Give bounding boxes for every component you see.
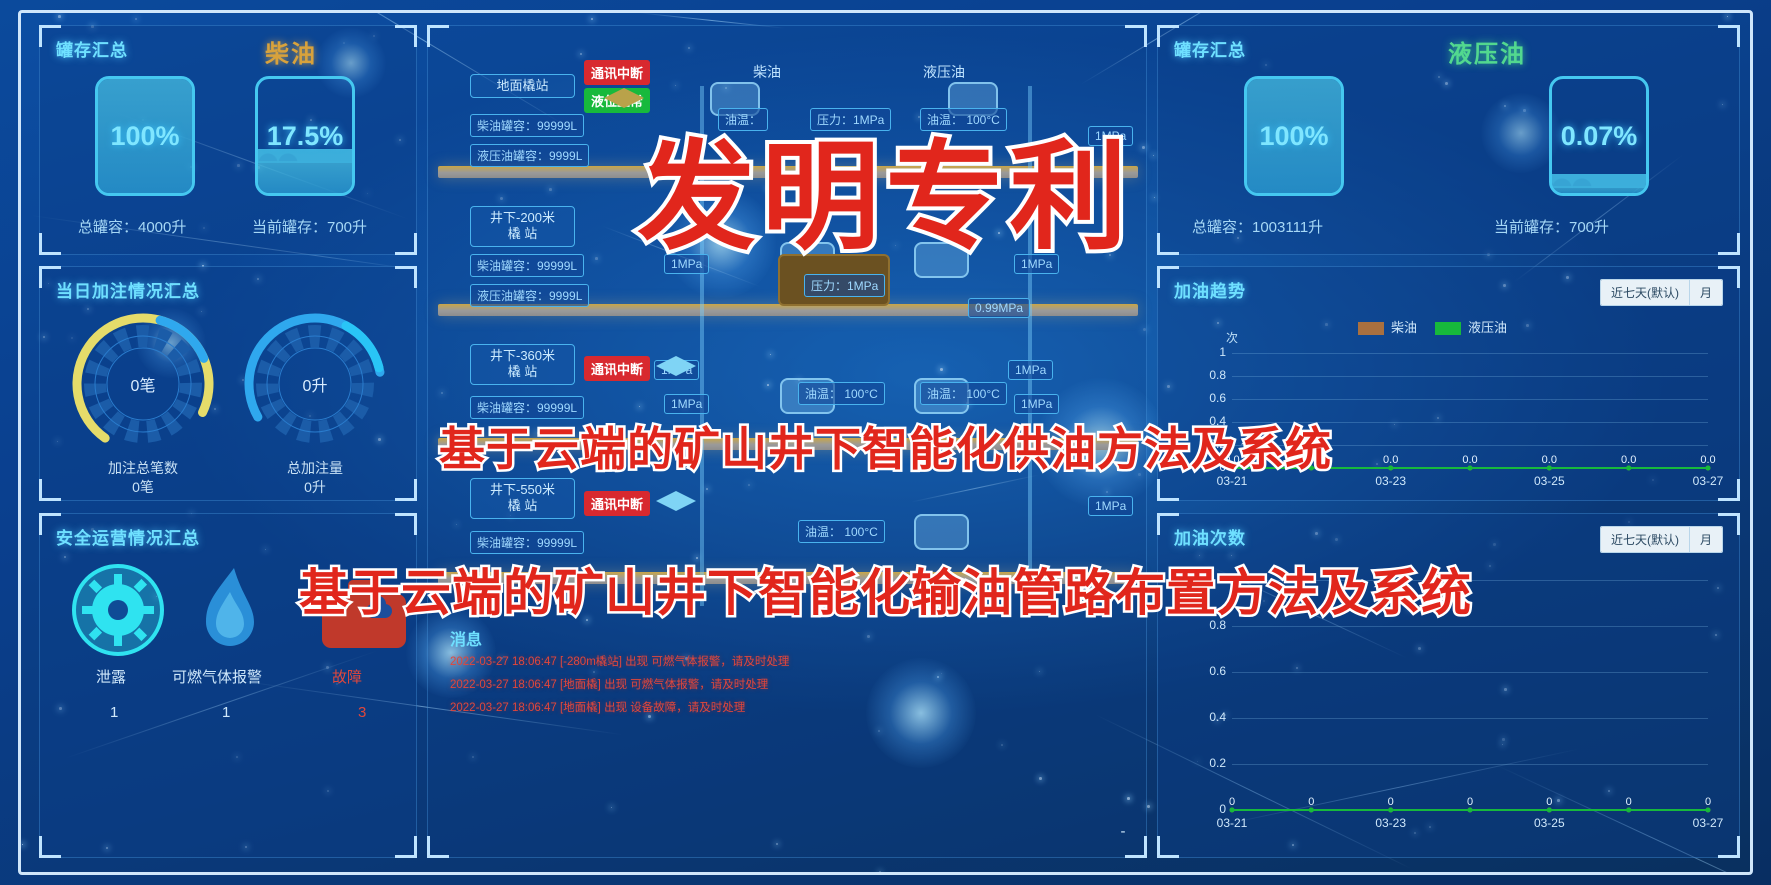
product-label-diesel: 柴油 (265, 34, 317, 69)
daily-refuel-summary-panel: 当日加注情况汇总 0笔 (39, 266, 417, 501)
safety-value-gas-alarm: 1 (222, 704, 230, 721)
gear-icon (70, 562, 166, 658)
station-550m-badge-comm: 通讯中断 (584, 491, 650, 516)
star-dot (591, 18, 593, 20)
right-tank-summary-panel: 罐存汇总 液压油 100% 0.07% 总罐容：1003111升 当前罐存：70… (1157, 25, 1740, 255)
safety-label-leak: 泄露 (96, 666, 126, 687)
refuel-volume-ring-gauge: 0升 (240, 309, 390, 459)
range-option-seven-days[interactable]: 近七天(默认) (1601, 527, 1689, 552)
panel-title: 加油趋势 (1174, 277, 1246, 302)
trend-chart-legend: 柴油 液压油 (1358, 317, 1507, 336)
star-dot (1153, 155, 1154, 156)
product-label-hydraulic: 液压油 (1448, 34, 1526, 69)
screen-frame: 罐存汇总 柴油 100% 17.5% 总罐容：4000升 当前罐存：700升 (18, 10, 1753, 875)
refuel-count-ring-gauge: 0笔 (68, 309, 218, 459)
station-surface-tag-diesel: 柴油罐容：99999L (470, 114, 584, 137)
temperature-tag-4: 油温： 100°C (920, 382, 1007, 405)
refuel-count-caption: 加注总笔数 0笔 (68, 459, 218, 497)
diesel-total-caption: 总罐容：4000升 (78, 216, 186, 237)
tank-unit-bottom (914, 514, 969, 550)
range-option-month[interactable]: 月 (1689, 527, 1722, 552)
hydraulic-total-caption: 总罐容：1003111升 (1192, 216, 1323, 237)
data-point-label: 0.0 (1533, 454, 1565, 466)
trend-range-toggle[interactable]: 近七天(默认) 月 (1600, 279, 1723, 306)
star-dot (1727, 16, 1728, 17)
station-surface-badge-comm: 通讯中断 (584, 60, 650, 85)
diesel-current-caption: 当前罐存：700升 (252, 216, 367, 237)
pressure-tag-7: 1MPa (1014, 394, 1059, 414)
data-point-label: 0 (1216, 796, 1248, 808)
station-550m-name[interactable]: 井下-550米 橇 站 (470, 478, 575, 519)
safety-item-leak[interactable] (70, 562, 166, 663)
x-axis-tick: 03-21 (1206, 816, 1258, 830)
legend-item-hydraulic: 液压油 (1435, 317, 1507, 336)
hydraulic-current-caption: 当前罐存：700升 (1494, 216, 1609, 237)
panel-title: 罐存汇总 (56, 36, 128, 61)
star-dot (135, 18, 137, 20)
data-point-label: 0 (1692, 796, 1724, 808)
data-point-label: 0.0 (1613, 454, 1645, 466)
legend-swatch-hydraulic (1435, 322, 1461, 335)
legend-item-diesel: 柴油 (1358, 317, 1417, 336)
diesel-current-tank-gauge: 17.5% (255, 76, 355, 196)
safety-label-gas-alarm: 可燃气体报警 (172, 666, 262, 687)
caption-value: 0笔 (132, 479, 154, 495)
watermark-line-2: 基于云端的矿山井下智能化输油管路布置方法及系统 (299, 553, 1472, 625)
legend-label: 柴油 (1391, 320, 1417, 335)
tank-percent-label: 0.07% (1552, 79, 1646, 193)
data-point-label: 0 (1454, 796, 1486, 808)
ring-value: 0笔 (68, 309, 218, 459)
data-point-label: 0.0 (1692, 454, 1724, 466)
equipment-label-hydraulic: 液压油 (923, 62, 965, 82)
safety-value-fault: 3 (358, 704, 366, 721)
tank-percent-label: 17.5% (258, 79, 352, 193)
star-dot (1147, 805, 1150, 808)
legend-label: 液压油 (1468, 320, 1507, 335)
caption-title: 总加注量 (287, 460, 343, 476)
x-axis-tick: 03-25 (1523, 816, 1575, 830)
tank-percent-label: 100% (1247, 79, 1341, 193)
flame-icon (190, 566, 270, 658)
small-pressure-tag-3: 0.99MPa (968, 298, 1030, 318)
x-axis-tick: 03-27 (1682, 474, 1734, 488)
station-360m-name[interactable]: 井下-360米 橇 站 (470, 344, 575, 385)
data-point-label: 0 (1533, 796, 1565, 808)
equipment-label-diesel: 柴油 (753, 62, 781, 82)
range-option-month[interactable]: 月 (1689, 280, 1722, 305)
message-row: 2022-03-27 18:06:47 [-280m橇站] 出现 可燃气体报警，… (450, 653, 789, 669)
caption-value: 0升 (304, 479, 326, 495)
refuel-volume-caption: 总加注量 0升 (240, 459, 390, 497)
panel-title: 安全运营情况汇总 (56, 524, 200, 549)
left-tank-summary-panel: 罐存汇总 柴油 100% 17.5% 总罐容：4000升 当前罐存：700升 (39, 25, 417, 255)
pressure-tag-8: 1MPa (1088, 496, 1133, 516)
count-range-toggle[interactable]: 近七天(默认) 月 (1600, 526, 1723, 553)
star-dot (1154, 197, 1155, 198)
panel-title: 罐存汇总 (1174, 36, 1246, 61)
hydraulic-total-tank-gauge: 100% (1244, 76, 1344, 196)
station-200m-tag-diesel: 柴油罐容：99999L (470, 254, 584, 277)
pressure-tag-4: 1MPa (654, 360, 699, 380)
hydraulic-current-tank-gauge: 0.07% (1549, 76, 1649, 196)
pressure-tag-6: 1MPa (664, 394, 709, 414)
station-200m-name[interactable]: 井下-200米 橇 站 (470, 206, 575, 247)
legend-swatch-diesel (1358, 322, 1384, 335)
station-550m-tag-diesel: 柴油罐容：99999L (470, 531, 584, 554)
minimize-button[interactable]: - (1114, 825, 1132, 843)
x-axis-tick: 03-23 (1365, 816, 1417, 830)
safety-item-gas-alarm[interactable] (190, 566, 270, 663)
x-axis-tick: 03-25 (1523, 474, 1575, 488)
diesel-total-tank-gauge: 100% (95, 76, 195, 196)
caption-title: 加注总笔数 (108, 460, 178, 476)
x-axis-tick: 03-27 (1682, 816, 1734, 830)
messages-title: 消息 (450, 626, 482, 650)
station-surface-tag-hydraulic: 液压油罐容：9999L (470, 144, 589, 167)
tank-percent-label: 100% (98, 79, 192, 193)
star-dot (58, 15, 61, 18)
safety-label-fault: 故障 (332, 666, 362, 687)
data-point-label: 0 (1613, 796, 1645, 808)
pressure-tag-5: 1MPa (1008, 360, 1053, 380)
ring-value: 0升 (240, 309, 390, 459)
message-row: 2022-03-27 18:06:47 [地面橇] 出现 设备故障，请及时处理 (450, 699, 745, 715)
star-dot (879, 871, 881, 873)
temperature-tag-5: 油温： 100°C (798, 520, 885, 543)
watermark-line-1: 基于云端的矿山井下智能化供油方法及系统 (439, 413, 1332, 479)
data-point-label: 0.0 (1375, 454, 1407, 466)
data-point-label: 0.0 (1454, 454, 1486, 466)
data-point-label: 0 (1375, 796, 1407, 808)
small-pressure-tag-2: 压力：1MPa (804, 274, 885, 297)
x-axis-tick: 03-23 (1365, 474, 1417, 488)
station-360m-badge-comm: 通讯中断 (584, 356, 650, 381)
dashboard-root: 罐存汇总 柴油 100% 17.5% 总罐容：4000升 当前罐存：700升 (0, 0, 1771, 885)
station-200m-tag-hydraulic: 液压油罐容：9999L (470, 284, 589, 307)
star-dot (22, 844, 23, 845)
panel-title: 加油次数 (1174, 524, 1246, 549)
panel-title: 当日加注情况汇总 (56, 277, 200, 302)
data-point-label: 0 (1295, 796, 1327, 808)
watermark-main: 发明专利 (637, 101, 1133, 272)
range-option-seven-days[interactable]: 近七天(默认) (1601, 280, 1689, 305)
message-row: 2022-03-27 18:06:47 [地面橇] 出现 可燃气体报警，请及时处… (450, 676, 768, 692)
safety-value-leak: 1 (110, 704, 118, 721)
station-surface-name[interactable]: 地面橇站 (470, 74, 575, 98)
temperature-tag-3: 油温： 100°C (798, 382, 885, 405)
